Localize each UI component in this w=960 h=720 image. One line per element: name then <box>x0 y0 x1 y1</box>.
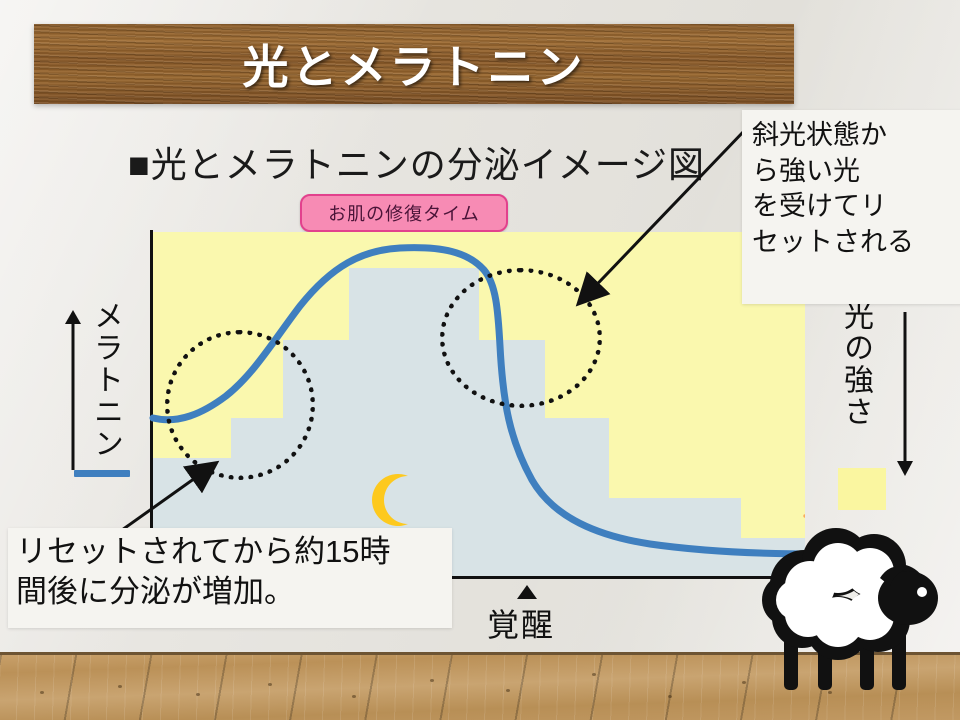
highlight-circle-left <box>165 330 315 480</box>
legend-light-swatch <box>838 468 886 510</box>
callout-right-line-4: セットされる <box>752 225 960 261</box>
legend-melatonin-swatch <box>74 470 130 477</box>
sheep-icon <box>752 522 952 698</box>
subtitle: ■光とメラトニンの分泌イメージ図 <box>128 136 705 188</box>
arrow-down-icon <box>894 308 916 478</box>
slide-canvas: 光とメラトニン ■光とメラトニンの分泌イメージ図 お肌の修復タイム <box>0 0 960 720</box>
callout-left-line-1: リセットされてから約15時 <box>16 532 444 572</box>
y-axis-label-group: メラトニン <box>60 300 140 490</box>
highlight-circle-right <box>440 268 602 408</box>
title-banner: 光とメラトニン <box>34 24 794 104</box>
x-axis-label: 覚醒 <box>487 600 555 646</box>
skin-repair-badge: お肌の修復タイム <box>300 194 508 232</box>
callout-right-line-2: ら強い光 <box>752 154 960 190</box>
arrow-up-icon <box>62 308 84 476</box>
callout-left: リセットされてから約15時 間後に分泌が増加。 <box>8 528 452 628</box>
callout-right: 斜光状態か ら強い光 を受けてリ セットされる <box>742 110 960 304</box>
skin-repair-badge-label: お肌の修復タイム <box>328 200 480 226</box>
callout-right-line-1: 斜光状態か <box>752 118 960 154</box>
callout-left-line-2: 間後に分泌が増加。 <box>16 572 444 612</box>
triangle-up-marker <box>517 585 537 599</box>
page-title: 光とメラトニン <box>243 31 586 97</box>
y2-axis-label: 光の強さ <box>840 300 870 428</box>
y-axis-label: メラトニン <box>90 300 120 460</box>
callout-right-line-3: を受けてリ <box>752 189 960 225</box>
